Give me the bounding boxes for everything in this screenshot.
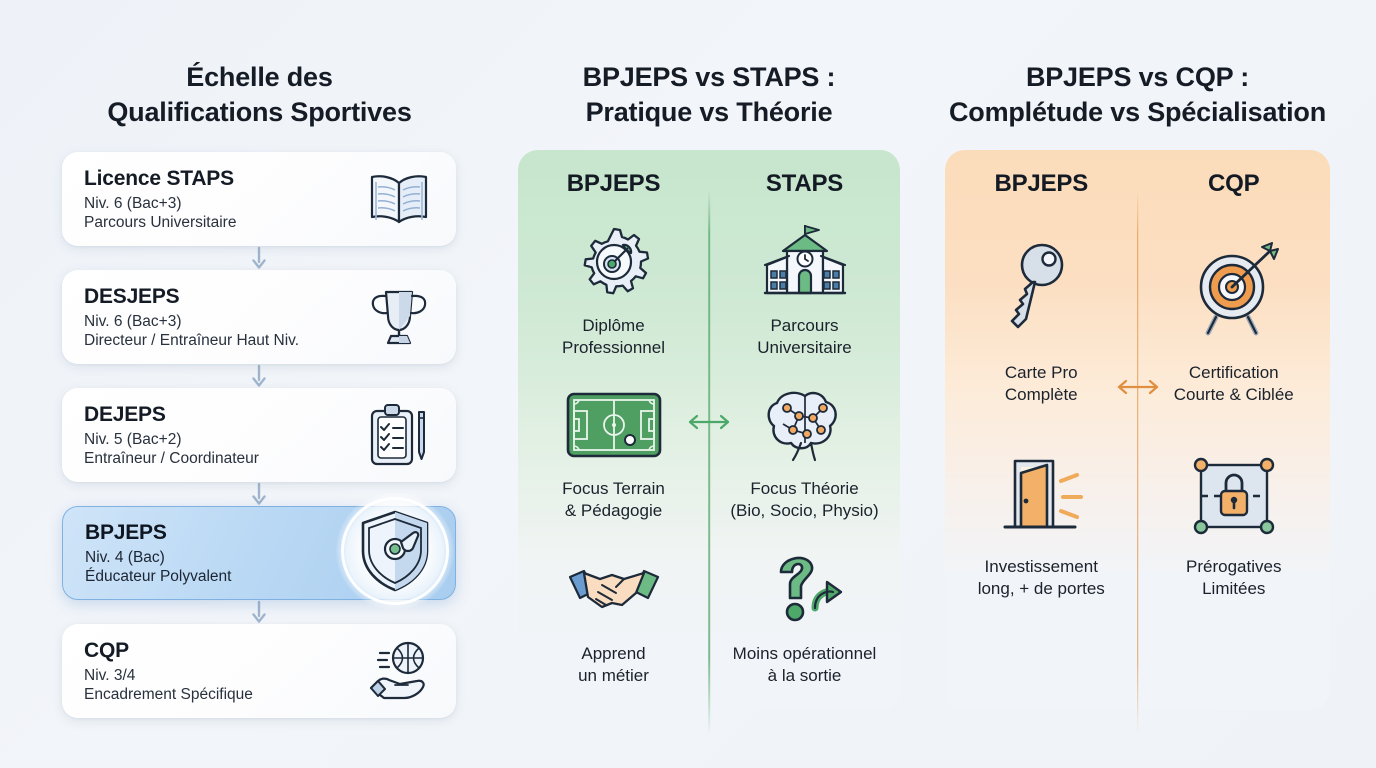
comparison-cell-label: Apprend un métier <box>578 643 649 687</box>
comparison-cell-right: Certification Courte & Ciblée <box>1138 230 1331 406</box>
comparison-cell-label: Carte Pro Complète <box>1005 362 1078 406</box>
comparison-header-left: BPJEPS <box>945 170 1138 198</box>
comparison-headers: BPJEPS STAPS <box>518 170 900 198</box>
card-level: Niv. 3/4 <box>84 666 356 686</box>
key-icon <box>1002 230 1080 348</box>
middle-column-title: BPJEPS vs STAPS : Pratique vs Théorie <box>503 60 915 130</box>
card-role: Éducateur Polyvalent <box>85 567 441 587</box>
label-line1: Focus Terrain <box>562 478 665 500</box>
card-title: CQP <box>84 638 356 663</box>
hand-basketball-icon <box>356 632 442 710</box>
open-book-icon <box>356 160 442 238</box>
label-line2: Universitaire <box>757 337 851 359</box>
comparison-panel-orange: BPJEPS CQP <box>945 150 1330 710</box>
soccer-field-icon <box>566 379 662 471</box>
comparison-cell-left: Apprend un métier <box>518 544 709 687</box>
right-title-line2: Complétude vs Spécialisation <box>930 95 1345 130</box>
infographic-canvas: Échelle des Qualifications Sportives Lic… <box>0 0 1376 768</box>
comparison-cell-label: Certification Courte & Ciblée <box>1174 362 1294 406</box>
comparison-cell-label: Investissement long, + de portes <box>978 556 1105 600</box>
ladder-arrow-down <box>62 482 456 506</box>
label-line1: Diplôme <box>562 315 665 337</box>
label-line1: Carte Pro <box>1005 362 1078 384</box>
open-door-icon <box>995 448 1087 544</box>
trophy-icon <box>356 278 442 356</box>
card-role: Directeur / Entraîneur Haut Niv. <box>84 331 356 351</box>
ladder-card-cqp[interactable]: CQP Niv. 3/4 Encadrement Spécifique <box>62 624 456 718</box>
card-title: Licence STAPS <box>84 166 356 191</box>
comparison-row: Focus Terrain & Pédagogie <box>518 379 900 522</box>
comparison-double-arrow <box>686 413 732 431</box>
card-text-block: DEJEPS Niv. 5 (Bac+2) Entraîneur / Coord… <box>84 402 356 469</box>
comparison-header-left: BPJEPS <box>518 170 709 198</box>
comparison-double-arrow <box>1115 378 1161 396</box>
comparison-row: Carte Pro Complète <box>945 230 1330 406</box>
card-role: Encadrement Spécifique <box>84 685 356 705</box>
label-line1: Parcours <box>757 315 851 337</box>
column-qualifications-ladder: Échelle des Qualifications Sportives Lic… <box>32 0 487 768</box>
comparison-cell-left: Carte Pro Complète <box>945 230 1138 406</box>
comparison-row: Diplôme Professionnel <box>518 216 900 359</box>
comparison-cell-label: Focus Terrain & Pédagogie <box>562 478 665 522</box>
comparison-panel-green: BPJEPS STAPS <box>518 150 900 710</box>
handshake-icon <box>566 544 662 636</box>
card-text-block: Licence STAPS Niv. 6 (Bac+3) Parcours Un… <box>84 166 356 233</box>
question-arrow-icon <box>765 544 845 636</box>
card-title: DESJEPS <box>84 284 356 309</box>
right-column-title: BPJEPS vs CQP : Complétude vs Spécialisa… <box>930 60 1345 130</box>
middle-title-line2: Pratique vs Théorie <box>503 95 915 130</box>
comparison-header-right: CQP <box>1138 170 1331 198</box>
label-line2: long, + de portes <box>978 578 1105 600</box>
card-role: Entraîneur / Coordinateur <box>84 449 356 469</box>
ladder-arrow-down <box>62 246 456 270</box>
comparison-cell-right: Parcours Universitaire <box>709 216 900 359</box>
target-arrow-icon <box>1186 230 1282 348</box>
card-role: Parcours Universitaire <box>84 213 356 233</box>
label-line1: Focus Théorie <box>730 478 878 500</box>
card-level: Niv. 5 (Bac+2) <box>84 430 356 450</box>
comparison-cell-label: Diplôme Professionnel <box>562 315 665 359</box>
comparison-rows: Carte Pro Complète <box>945 230 1330 600</box>
label-line1: Investissement <box>978 556 1105 578</box>
card-text-block: CQP Niv. 3/4 Encadrement Spécifique <box>84 638 356 705</box>
label-line2: (Bio, Socio, Physio) <box>730 500 878 522</box>
left-title-line1: Échelle des <box>32 60 487 95</box>
ladder-card-licence-staps[interactable]: Licence STAPS Niv. 6 (Bac+3) Parcours Un… <box>62 152 456 246</box>
label-line1: Prérogatives <box>1186 556 1281 578</box>
card-text-block: BPJEPS Niv. 4 (Bac) Éducateur Polyvalent <box>85 520 441 587</box>
gear-wrench-icon <box>576 216 652 308</box>
ladder-card-bpjeps-highlighted[interactable]: BPJEPS Niv. 4 (Bac) Éducateur Polyvalent <box>62 506 456 600</box>
left-title-line2: Qualifications Sportives <box>32 95 487 130</box>
label-line2: Professionnel <box>562 337 665 359</box>
label-line1: Certification <box>1174 362 1294 384</box>
comparison-cell-right: Moins opérationnel à la sortie <box>709 544 900 687</box>
comparison-cell-right: Focus Théorie (Bio, Socio, Physio) <box>709 379 900 522</box>
ladder-arrow-down <box>62 600 456 624</box>
label-line2: Complète <box>1005 384 1078 406</box>
card-title: BPJEPS <box>85 520 441 545</box>
ladder-card-dejeps[interactable]: DEJEPS Niv. 5 (Bac+2) Entraîneur / Coord… <box>62 388 456 482</box>
column-bpjeps-vs-staps: BPJEPS vs STAPS : Pratique vs Théorie BP… <box>503 0 915 768</box>
label-line2: Limitées <box>1186 578 1281 600</box>
card-level: Niv. 4 (Bac) <box>85 548 441 568</box>
label-line2: Courte & Ciblée <box>1174 384 1294 406</box>
comparison-cell-label: Moins opérationnel à la sortie <box>733 643 877 687</box>
comparison-cell-label: Parcours Universitaire <box>757 315 851 359</box>
card-text-block: DESJEPS Niv. 6 (Bac+3) Directeur / Entra… <box>84 284 356 351</box>
comparison-row: Apprend un métier <box>518 544 900 687</box>
comparison-cell-label: Focus Théorie (Bio, Socio, Physio) <box>730 478 878 522</box>
comparison-rows: Diplôme Professionnel <box>518 216 900 687</box>
middle-title-line1: BPJEPS vs STAPS : <box>503 60 915 95</box>
comparison-cell-left: Focus Terrain & Pédagogie <box>518 379 709 522</box>
qualification-ladder: Licence STAPS Niv. 6 (Bac+3) Parcours Un… <box>62 152 456 718</box>
card-title: DEJEPS <box>84 402 356 427</box>
card-level: Niv. 6 (Bac+3) <box>84 312 356 332</box>
label-line1: Moins opérationnel <box>733 643 877 665</box>
comparison-headers: BPJEPS CQP <box>945 170 1330 198</box>
comparison-cell-left: Investissement long, + de portes <box>945 448 1138 600</box>
school-building-icon <box>763 216 847 308</box>
left-column-title: Échelle des Qualifications Sportives <box>32 60 487 130</box>
right-title-line1: BPJEPS vs CQP : <box>930 60 1345 95</box>
card-level: Niv. 6 (Bac+3) <box>84 194 356 214</box>
column-bpjeps-vs-cqp: BPJEPS vs CQP : Complétude vs Spécialisa… <box>930 0 1345 768</box>
locked-box-icon <box>1189 448 1279 544</box>
comparison-cell-label: Prérogatives Limitées <box>1186 556 1281 600</box>
comparison-cell-right: Prérogatives Limitées <box>1138 448 1331 600</box>
ladder-arrow-down <box>62 364 456 388</box>
clipboard-pen-icon <box>356 396 442 474</box>
comparison-header-right: STAPS <box>709 170 900 198</box>
label-line1: Apprend <box>578 643 649 665</box>
brain-network-icon <box>763 379 847 471</box>
ladder-card-desjeps[interactable]: DESJEPS Niv. 6 (Bac+3) Directeur / Entra… <box>62 270 456 364</box>
comparison-row: Investissement long, + de portes <box>945 448 1330 600</box>
label-line2: à la sortie <box>733 665 877 687</box>
comparison-cell-left: Diplôme Professionnel <box>518 216 709 359</box>
label-line2: un métier <box>578 665 649 687</box>
label-line2: & Pédagogie <box>562 500 665 522</box>
